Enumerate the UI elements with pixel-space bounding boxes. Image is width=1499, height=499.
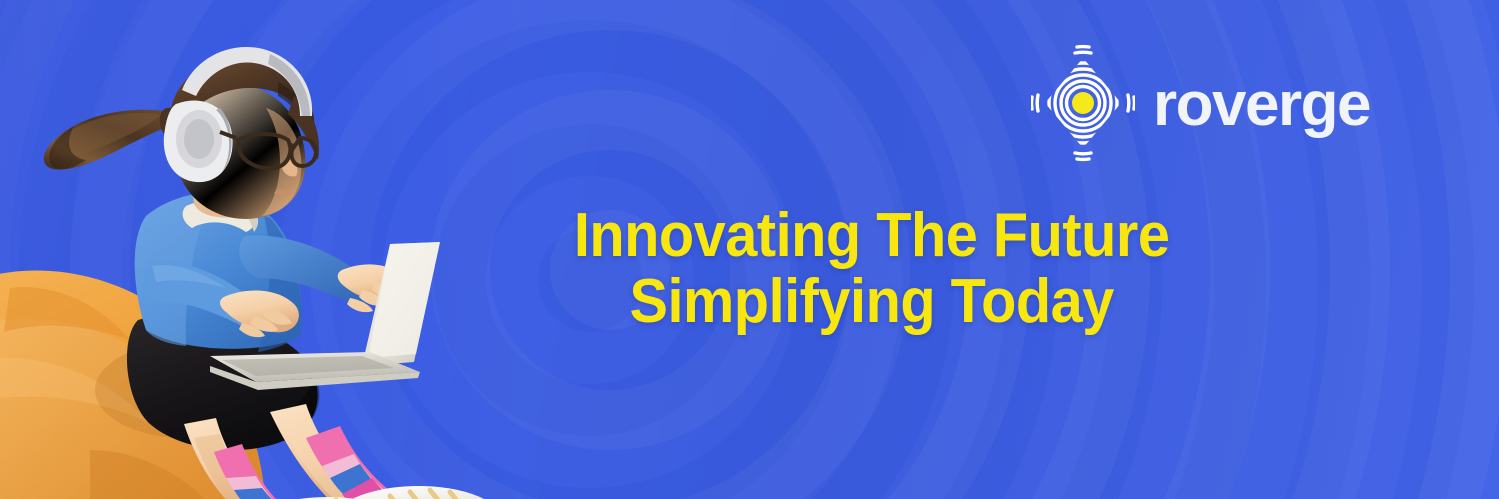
- headline-line-2: Simplifying Today: [495, 269, 1248, 335]
- roverge-radial-mark-icon: [1031, 44, 1135, 162]
- headline-line-1: Innovating The Future: [495, 203, 1248, 269]
- brand-wordmark: roverge: [1153, 74, 1370, 136]
- headline: Innovating The Future Simplifying Today: [495, 203, 1248, 335]
- promo-banner: Innovating The Future Simplifying Today: [0, 0, 1499, 499]
- brand-lockup[interactable]: roverge: [1031, 44, 1370, 162]
